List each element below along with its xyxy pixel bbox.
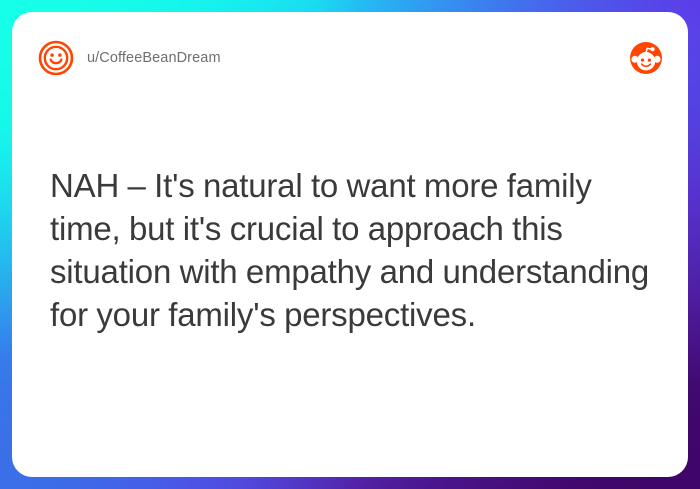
reddit-comment-card: u/CoffeeBeanDream NAH – It's natural to … [12,12,688,477]
screenshot-root: u/CoffeeBeanDream NAH – It's natural to … [0,0,700,489]
comment-text: NAH – It's natural to want more family t… [50,164,650,336]
smiley-face-avatar-icon [38,40,74,76]
card-body: NAH – It's natural to want more family t… [50,164,650,336]
reddit-snoo-logo-icon[interactable] [630,42,662,74]
card-header: u/CoffeeBeanDream [38,38,662,78]
username-label: u/CoffeeBeanDream [87,50,221,66]
